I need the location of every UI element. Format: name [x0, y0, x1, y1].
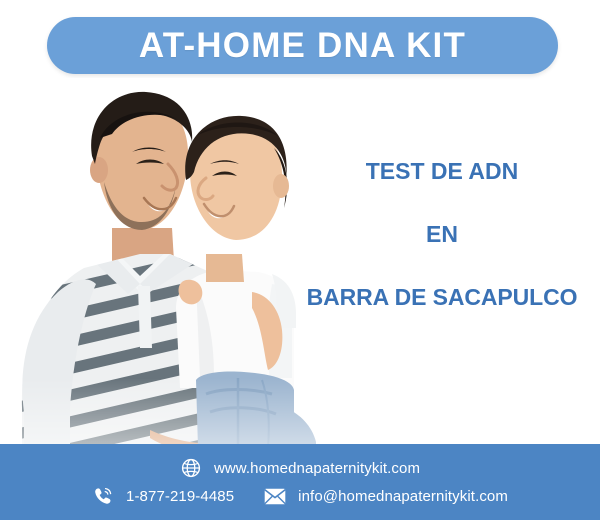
headline-line-service: TEST DE ADN [292, 160, 592, 183]
email-item[interactable]: info@homednapaternitykit.com [264, 485, 508, 507]
envelope-icon [264, 485, 286, 507]
phone-label: 1-877-219-4485 [126, 489, 234, 504]
headline-block: TEST DE ADN EN BARRA DE SACAPULCO [292, 160, 592, 309]
headline-line-connector: EN [292, 223, 592, 246]
poster-canvas: AT-HOME DNA KIT [0, 0, 600, 520]
footer-row-website: www.homednapaternitykit.com [180, 457, 420, 479]
footer-row-phone-email: 1-877-219-4485 info@homednapaternitykit.… [92, 485, 508, 507]
globe-icon [180, 457, 202, 479]
phone-item[interactable]: 1-877-219-4485 [92, 485, 234, 507]
family-photo [0, 78, 320, 448]
email-label: info@homednapaternitykit.com [298, 489, 508, 504]
footer-contact-bar: www.homednapaternitykit.com 1-877-219-44… [0, 444, 600, 520]
website-item[interactable]: www.homednapaternitykit.com [180, 457, 420, 479]
website-label: www.homednapaternitykit.com [214, 461, 420, 476]
headline-line-location: BARRA DE SACAPULCO [292, 286, 592, 309]
header-pill: AT-HOME DNA KIT [47, 17, 558, 74]
phone-icon [92, 485, 114, 507]
page-title: AT-HOME DNA KIT [139, 28, 466, 63]
